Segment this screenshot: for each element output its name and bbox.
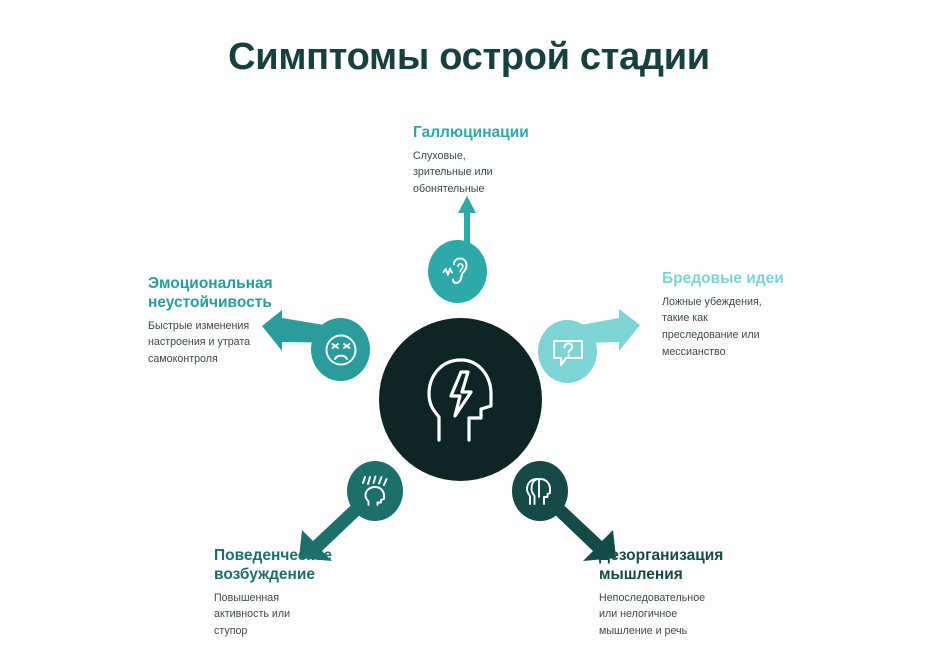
node-circle-behavioral-agitation[interactable] (347, 461, 403, 521)
head-lightning-icon (421, 354, 501, 446)
infographic-canvas: Симптомы острой стадии (0, 0, 938, 665)
label-delusions: Бредовые идеи Ложные убеждения, такие ка… (662, 270, 852, 360)
heading-emotional-instability: Эмоциональная неустойчивость (148, 275, 328, 313)
body-line: или нелогичное (599, 608, 677, 620)
heading-line: Дезорганизация (599, 547, 723, 564)
body-hallucinations: Слуховые, зрительные или обонятельные (413, 148, 603, 198)
body-line: настроения и утрата (148, 336, 250, 348)
body-line: Повышенная (214, 592, 279, 604)
body-line: Непоследовательное (599, 592, 705, 604)
heading-line: возбуждение (214, 566, 315, 583)
body-delusions: Ложные убеждения, такие как преследовани… (662, 294, 852, 360)
body-line: Быстрые изменения (148, 320, 249, 332)
body-line: Слуховые, (413, 150, 466, 162)
label-emotional-instability: Эмоциональная неустойчивость Быстрые изм… (148, 275, 328, 368)
body-line: Ложные убеждения, (662, 296, 762, 308)
heading-line: неустойчивость (148, 294, 272, 311)
heading-line: мышления (599, 566, 683, 583)
page-title: Симптомы острой стадии (0, 36, 938, 79)
body-disorganized-thinking: Непоследовательное или нелогичное мышлен… (599, 590, 799, 640)
speech-bubble-question-icon (551, 336, 585, 368)
body-line: обонятельные (413, 183, 484, 195)
body-line: мышление и речь (599, 625, 687, 637)
label-behavioral-agitation: Поведенческое возбуждение Повышенная акт… (214, 547, 404, 640)
body-emotional-instability: Быстрые изменения настроения и утрата са… (148, 318, 328, 368)
body-line: активность или (214, 608, 290, 620)
ear-soundwave-icon (441, 255, 475, 289)
body-line: преследование или (662, 329, 760, 341)
heading-behavioral-agitation: Поведенческое возбуждение (214, 547, 404, 585)
heading-disorganized-thinking: Дезорганизация мышления (599, 547, 799, 585)
heading-delusions: Бредовые идеи (662, 270, 852, 289)
body-behavioral-agitation: Повышенная активность или ступор (214, 590, 404, 640)
heading-line: Поведенческое (214, 547, 332, 564)
body-line: мессианство (662, 346, 726, 358)
body-line: ступор (214, 625, 247, 637)
body-line: такие как (662, 312, 708, 324)
label-hallucinations: Галлюцинации Слуховые, зрительные или об… (413, 124, 603, 198)
double-head-icon (522, 475, 558, 507)
label-disorganized-thinking: Дезорганизация мышления Непоследовательн… (599, 547, 799, 640)
heading-hallucinations: Галлюцинации (413, 124, 603, 143)
body-line: самоконтроля (148, 353, 218, 365)
node-circle-disorganized-thinking[interactable] (512, 461, 568, 521)
agitated-head-icon (358, 474, 392, 508)
body-line: зрительные или (413, 166, 493, 178)
node-circle-hallucinations[interactable] (428, 240, 487, 303)
heading-line: Эмоциональная (148, 275, 273, 292)
node-circle-delusions[interactable] (538, 320, 597, 383)
center-node (379, 318, 542, 481)
